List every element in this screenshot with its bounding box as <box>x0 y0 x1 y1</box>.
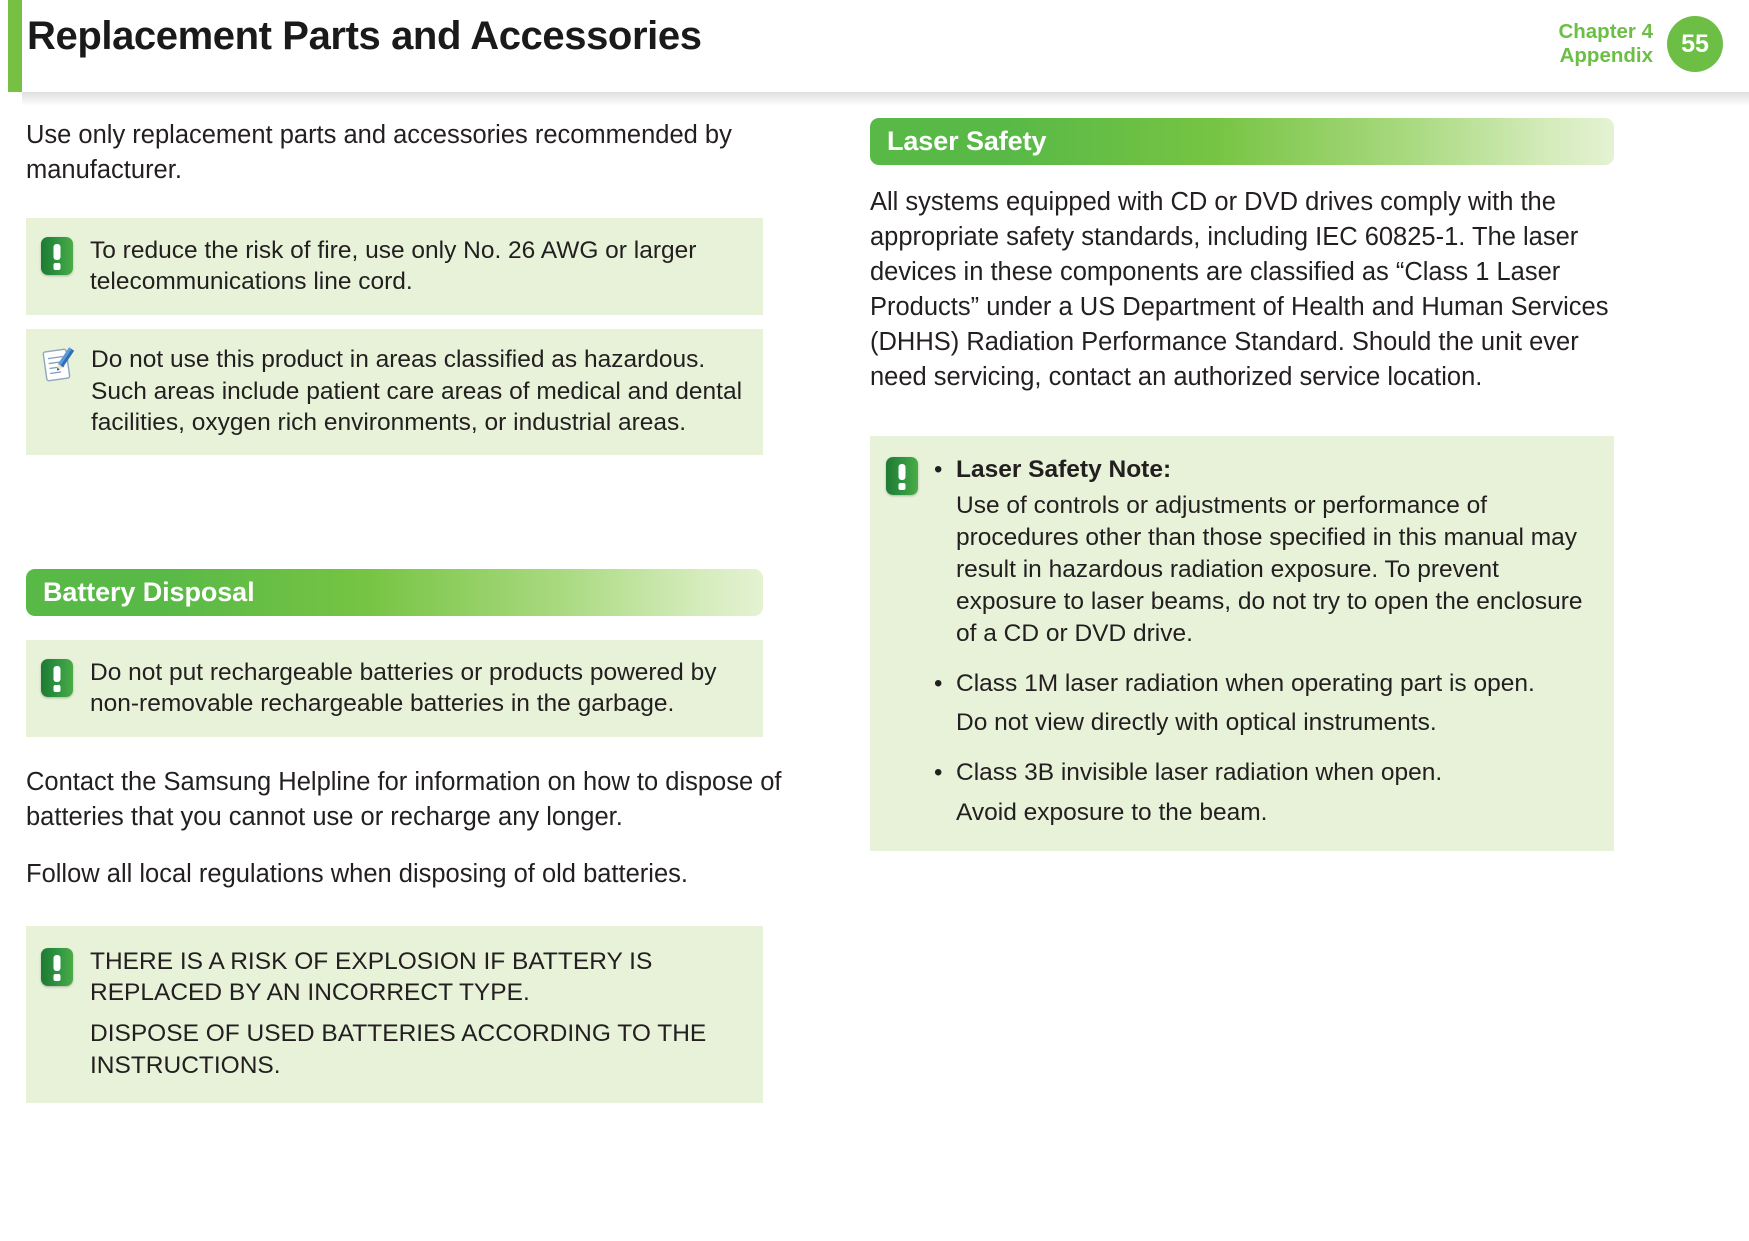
section-header-laser-safety-label: Laser Safety <box>870 126 1046 157</box>
callout-battery-text: Do not put rechargeable batteries or pro… <box>90 656 743 720</box>
page-number-badge: 55 <box>1667 16 1723 72</box>
laser-paragraph: All systems equipped with CD or DVD driv… <box>870 185 1610 395</box>
bullet-marker: • <box>934 454 956 650</box>
list-item: • Class 1M laser radiation when operatin… <box>934 668 1594 740</box>
bullet-content: Class 3B invisible laser radiation when … <box>956 757 1594 829</box>
page-title: Replacement Parts and Accessories <box>27 14 702 59</box>
battery-paragraph-1: Contact the Samsung Helpline for informa… <box>26 765 790 835</box>
callout-explosion-warning: THERE IS A RISK OF EXPLOSION IF BATTERY … <box>26 926 763 1103</box>
warning-icon <box>41 237 73 275</box>
bullet-marker: • <box>934 668 956 740</box>
section-header-battery-disposal: Battery Disposal <box>26 569 763 616</box>
warning-icon <box>41 948 73 986</box>
right-column: Laser Safety All systems equipped with C… <box>790 118 1749 1117</box>
chapter-line-1: Chapter 4 <box>1558 20 1653 44</box>
callout-fire-text: To reduce the risk of fire, use only No.… <box>90 234 743 298</box>
callout-explosion-line-1: THERE IS A RISK OF EXPLOSION IF BATTERY … <box>90 946 743 1009</box>
callout-laser-safety-note: • Laser Safety Note: Use of controls or … <box>870 436 1614 851</box>
bullet-content: Laser Safety Note: Use of controls or ad… <box>956 454 1594 650</box>
bullet-lead-label: Laser Safety Note: <box>956 454 1594 486</box>
section-header-laser-safety: Laser Safety <box>870 118 1614 165</box>
battery-paragraph-2: Follow all local regulations when dispos… <box>26 857 790 892</box>
left-column-spacer <box>26 469 790 569</box>
warning-icon <box>41 659 73 697</box>
bullet-body-text-secondary: Avoid exposure to the beam. <box>956 797 1594 829</box>
callout-battery-warning: Do not put rechargeable batteries or pro… <box>26 640 763 737</box>
laser-bullet-list: • Laser Safety Note: Use of controls or … <box>934 453 1594 829</box>
intro-paragraph: Use only replacement parts and accessori… <box>26 118 790 188</box>
callout-fire-warning: To reduce the risk of fire, use only No.… <box>26 218 763 315</box>
warning-icon <box>886 457 918 495</box>
bullet-body-text: Use of controls or adjustments or perfor… <box>956 490 1594 649</box>
left-column: Use only replacement parts and accessori… <box>0 118 790 1117</box>
callout-hazardous-note: Do not use this product in areas classif… <box>26 329 763 455</box>
header-accent-bar <box>8 0 22 92</box>
callout-hazardous-text: Do not use this product in areas classif… <box>91 343 743 439</box>
bullet-content: Class 1M laser radiation when operating … <box>956 668 1594 740</box>
section-header-battery-disposal-label: Battery Disposal <box>26 577 254 608</box>
bullet-body-text-secondary: Do not view directly with optical instru… <box>956 707 1594 739</box>
callout-explosion-line-2: DISPOSE OF USED BATTERIES ACCORDING TO T… <box>90 1018 743 1081</box>
header-chapter-group: Chapter 4 Appendix 55 <box>1558 16 1723 72</box>
page-header: Replacement Parts and Accessories Chapte… <box>0 0 1749 92</box>
bullet-body-text: Class 1M laser radiation when operating … <box>956 668 1594 700</box>
list-item: • Laser Safety Note: Use of controls or … <box>934 454 1594 650</box>
header-shadow-divider <box>22 92 1749 106</box>
page-content: Use only replacement parts and accessori… <box>0 118 1749 1117</box>
list-item: • Class 3B invisible laser radiation whe… <box>934 757 1594 829</box>
chapter-line-2: Appendix <box>1558 44 1653 68</box>
chapter-label: Chapter 4 Appendix <box>1558 20 1653 68</box>
note-icon <box>41 345 79 385</box>
bullet-marker: • <box>934 757 956 829</box>
bullet-body-text: Class 3B invisible laser radiation when … <box>956 757 1594 789</box>
callout-explosion-text: THERE IS A RISK OF EXPLOSION IF BATTERY … <box>90 945 743 1081</box>
